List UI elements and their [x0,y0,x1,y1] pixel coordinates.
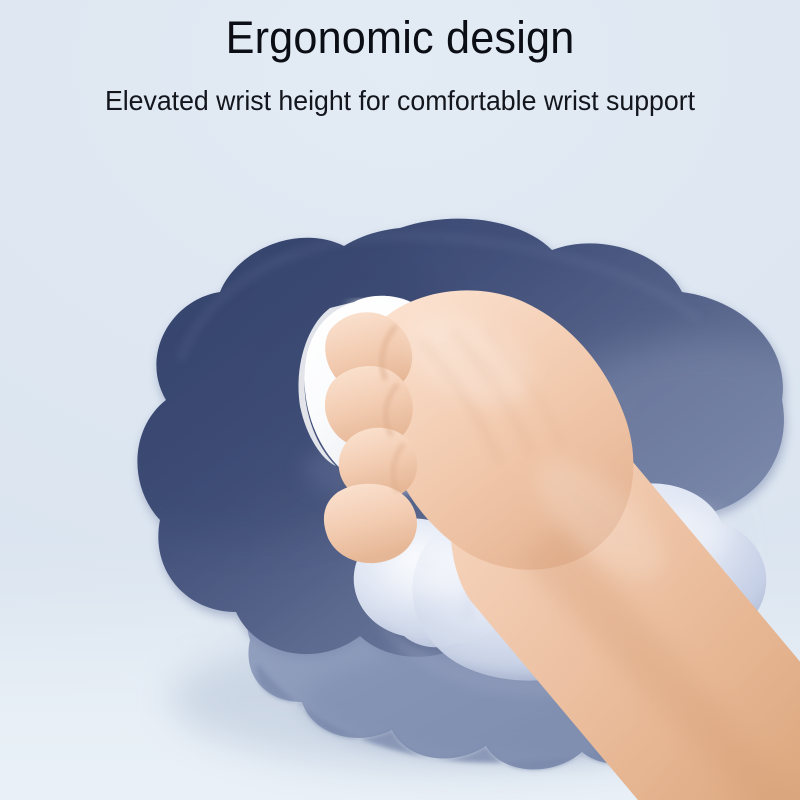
heading-block: Ergonomic design Elevated wrist height f… [0,0,800,117]
page-title: Ergonomic design [16,0,784,61]
thumb [324,484,417,563]
product-image-canvas: Ergonomic design Elevated wrist height f… [0,0,800,800]
product-illustration [0,0,800,800]
page-subtitle: Elevated wrist height for comfortable wr… [12,61,788,117]
